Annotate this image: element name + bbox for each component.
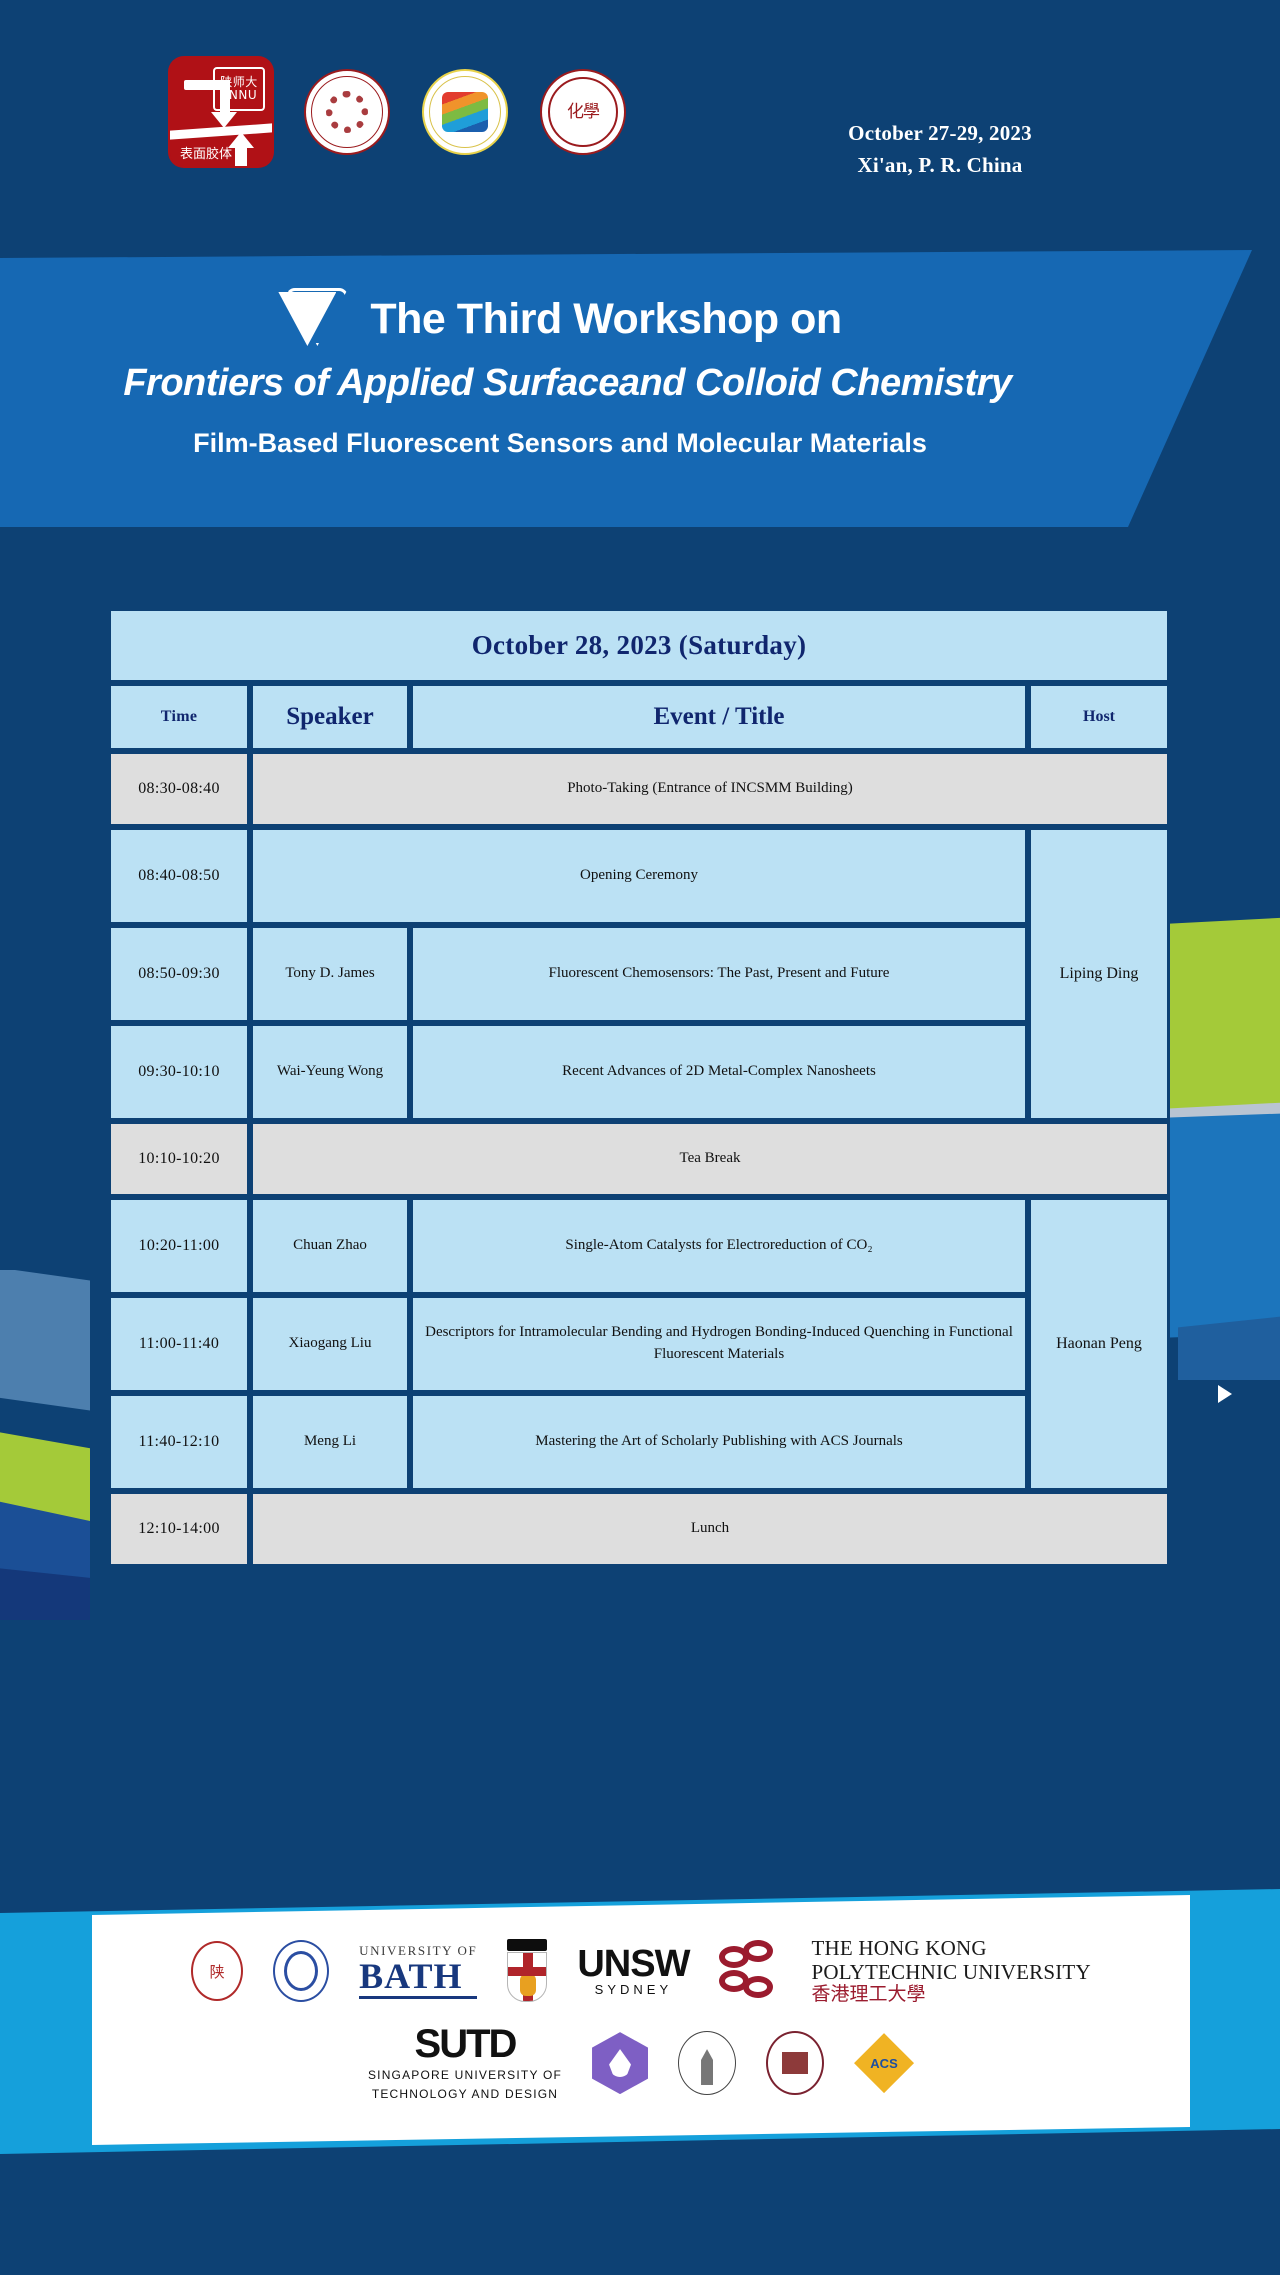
cell-time: 10:20-11:00 [108, 1197, 250, 1295]
decorative-navy-panel [0, 1489, 90, 1616]
decorative-green-panel [1170, 916, 1280, 1113]
conference-location: Xi'an, P. R. China [600, 150, 1280, 182]
cell-speaker: Meng Li [250, 1393, 410, 1491]
workshop-topic: Film-Based Fluorescent Sensors and Molec… [0, 428, 1120, 459]
sponsor-logo-panel: 陕 UNIVERSITY OF BATH UNSW SYDNEY THE HON… [92, 1895, 1190, 2145]
decorative-blue-panel [1170, 1113, 1280, 1338]
acs-logo: ACS [854, 2033, 914, 2093]
table-row: 12:10-14:00 Lunch [108, 1491, 1170, 1567]
cell-title: Mastering the Art of Scholarly Publishin… [410, 1393, 1028, 1491]
table-row: 11:40-12:10 Meng Li Mastering the Art of… [108, 1393, 1170, 1491]
polyu-line-2: POLYTECHNIC UNIVERSITY [811, 1961, 1090, 1985]
sutd-logo: SUTD SINGAPORE UNIVERSITY OF TECHNOLOGY … [368, 2024, 562, 2103]
sponsor-row-1: 陕 UNIVERSITY OF BATH UNSW SYDNEY THE HON… [191, 1937, 1091, 2005]
cell-time: 11:00-11:40 [108, 1295, 250, 1393]
header-date-block: October 27-29, 2023 Xi'an, P. R. China [0, 118, 1280, 181]
schedule-day-header-row: October 28, 2023 (Saturday) [108, 608, 1170, 683]
moscow-state-university-seal [678, 2031, 736, 2095]
table-row: 10:10-10:20 Tea Break [108, 1121, 1170, 1197]
decorative-arrow-icon [1218, 1385, 1232, 1403]
sutd-line-2: TECHNOLOGY AND DESIGN [368, 2087, 562, 2103]
column-header-host: Host [1028, 683, 1170, 751]
cell-speaker: Chuan Zhao [250, 1197, 410, 1295]
table-row: 08:30-08:40 Photo-Taking (Entrance of IN… [108, 751, 1170, 827]
table-row: 11:00-11:40 Xiaogang Liu Descriptors for… [108, 1295, 1170, 1393]
schedule-day-title: October 28, 2023 (Saturday) [108, 608, 1170, 683]
university-of-bath-logo: UNIVERSITY OF BATH [359, 1943, 477, 1999]
cell-time: 08:40-08:50 [108, 827, 250, 925]
cell-title: Photo-Taking (Entrance of INCSMM Buildin… [250, 751, 1170, 827]
cell-speaker: Tony D. James [250, 925, 410, 1023]
decorative-lime-panel [0, 1422, 90, 1528]
cell-time: 08:50-09:30 [108, 925, 250, 1023]
cell-speaker: Wai-Yeung Wong [250, 1023, 410, 1121]
workshop-subtitle: Frontiers of Applied Surfaceand Colloid … [0, 362, 1135, 405]
cell-time: 09:30-10:10 [108, 1023, 250, 1121]
hong-kong-polytechnic-university-logo: THE HONG KONG POLYTECHNIC UNIVERSITY 香港理… [811, 1937, 1090, 2005]
kazakh-national-technical-university-seal [766, 2031, 824, 2095]
cell-time: 08:30-08:40 [108, 751, 250, 827]
cell-title: Fluorescent Chemosensors: The Past, Pres… [410, 925, 1028, 1023]
decorative-shape-left [0, 1270, 110, 1620]
decorative-blue-panel-2 [1178, 1313, 1280, 1380]
cell-host: Liping Ding [1028, 827, 1170, 1121]
unsw-shield-icon [507, 1939, 547, 2003]
schedule-column-header-row: Time Speaker Event / Title Host [108, 683, 1170, 751]
cell-title: Tea Break [250, 1121, 1170, 1197]
sutd-glyph: SUTD [368, 2024, 562, 2064]
column-header-speaker: Speaker [250, 683, 410, 751]
conference-dates: October 27-29, 2023 [600, 118, 1280, 150]
workshop-title: The Third Workshop on [370, 295, 841, 344]
decorative-shape-right [1160, 900, 1280, 1380]
cell-title: Descriptors for Intramolecular Bending a… [410, 1295, 1028, 1393]
column-header-time: Time [108, 683, 250, 751]
banner-title-row: The Third Workshop on [0, 288, 1120, 350]
schedule-table: October 28, 2023 (Saturday) Time Speaker… [108, 608, 1170, 1567]
sponsor-row-2: SUTD SINGAPORE UNIVERSITY OF TECHNOLOGY … [368, 2024, 914, 2103]
cell-time: 10:10-10:20 [108, 1121, 250, 1197]
polyu-knot-icon [719, 1940, 781, 2002]
snnu-badge: 陕师大 SNNU [213, 67, 265, 111]
polyu-chinese-name: 香港理工大學 [811, 1984, 1090, 2005]
cell-title: Recent Advances of 2D Metal-Complex Nano… [410, 1023, 1028, 1121]
university-of-bath-crest-icon [273, 1940, 329, 2002]
triangle-logo-icon [278, 288, 348, 350]
bath-line-big: BATH [359, 1959, 477, 1999]
table-row: 08:50-09:30 Tony D. James Fluorescent Ch… [108, 925, 1170, 1023]
decorative-navy-panel-2 [0, 1562, 90, 1620]
cell-host: Haonan Peng [1028, 1197, 1170, 1491]
poster-header: 陕师大 SNNU 表面胶体 化學 October 27-29, 2023 Xi'… [0, 0, 1280, 250]
table-row: 10:20-11:00 Chuan Zhao Single-Atom Catal… [108, 1197, 1170, 1295]
snnu-badge-en: SNNU [221, 89, 257, 102]
decorative-slate-panel [0, 1270, 90, 1411]
unsw-wordmark: UNSW [577, 1946, 689, 1982]
shaanxi-normal-university-logo: 陕 [191, 1941, 243, 2001]
table-row: 09:30-10:10 Wai-Yeung Wong Recent Advanc… [108, 1023, 1170, 1121]
table-row: 08:40-08:50 Opening Ceremony Liping Ding [108, 827, 1170, 925]
purple-hexagon-droplet-logo [592, 2032, 648, 2094]
cell-speaker: Xiaogang Liu [250, 1295, 410, 1393]
cell-title: Opening Ceremony [250, 827, 1028, 925]
cell-time: 12:10-14:00 [108, 1491, 250, 1567]
unsw-sydney-logo: UNSW SYDNEY [577, 1946, 689, 1997]
decorative-pale-stripe [1166, 1101, 1280, 1124]
cell-title: Lunch [250, 1491, 1170, 1567]
title-banner: The Third Workshop on Frontiers of Appli… [0, 250, 1252, 527]
cell-title: Single-Atom Catalysts for Electroreducti… [410, 1197, 1028, 1295]
cell-time: 11:40-12:10 [108, 1393, 250, 1491]
column-header-event-title: Event / Title [410, 683, 1028, 751]
polyu-line-1: THE HONG KONG [811, 1937, 1090, 1961]
title-banner-wrap: The Third Workshop on Frontiers of Appli… [0, 250, 1280, 530]
sutd-line-1: SINGAPORE UNIVERSITY OF [368, 2068, 562, 2084]
